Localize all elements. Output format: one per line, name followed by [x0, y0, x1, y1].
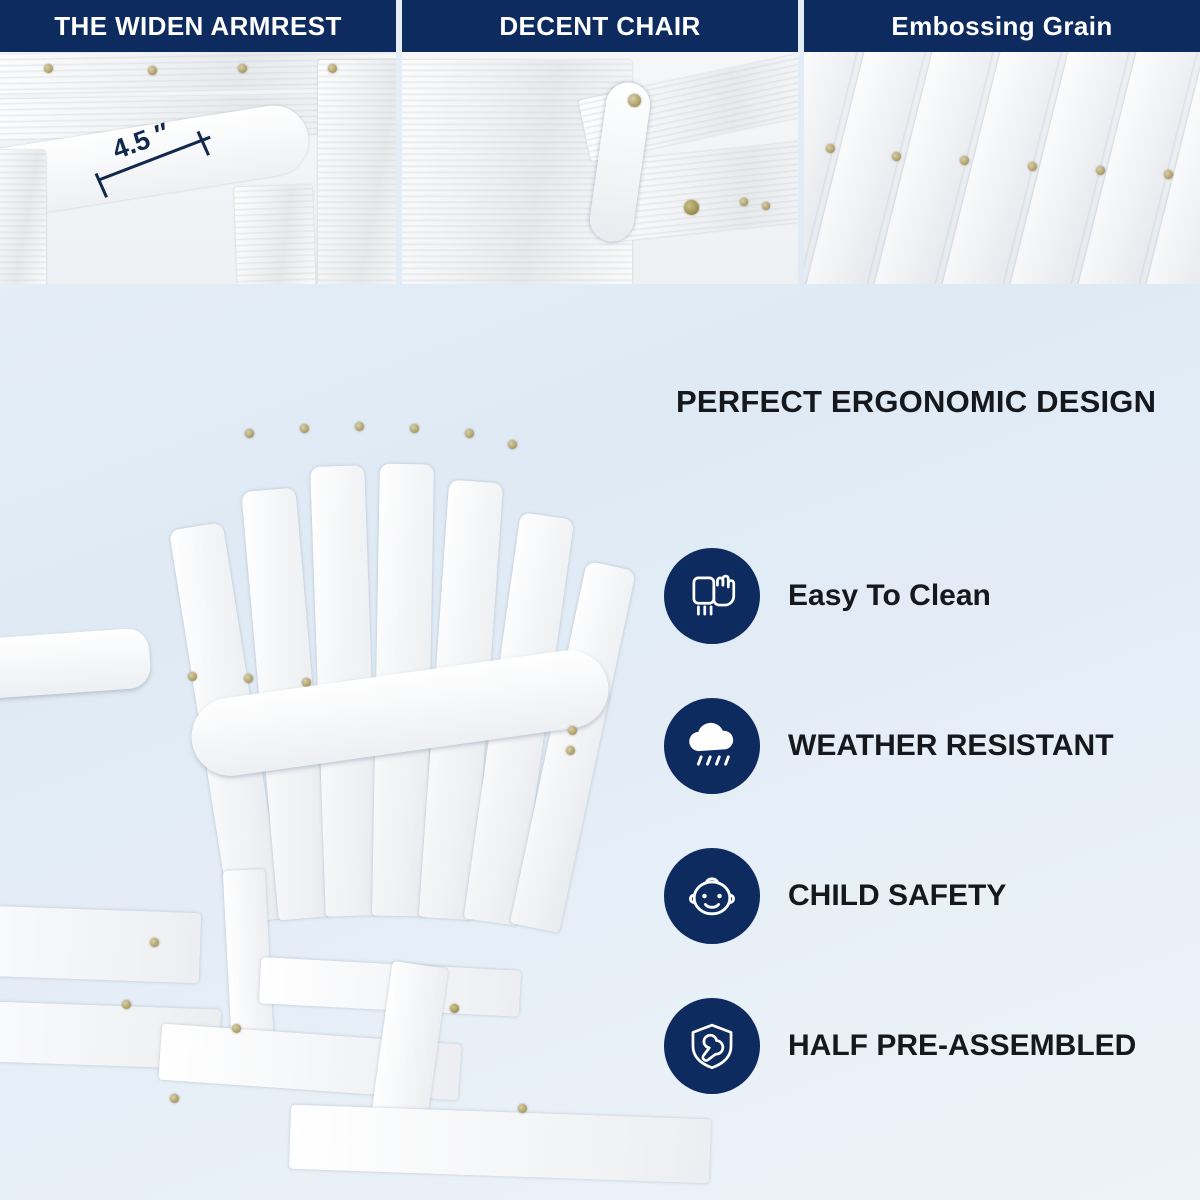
- panel-title-chair: DECENT CHAIR: [402, 0, 798, 52]
- feature-item-child-safety: CHILD SAFETY: [664, 846, 1194, 946]
- detail-panel-grain: Embossing Grain: [804, 0, 1200, 284]
- page-title: PERFECT ERGONOMIC DESIGN: [676, 384, 1186, 420]
- feature-item-weather-resistant: WEATHER RESISTANT: [664, 696, 1194, 796]
- product-infographic: 4.5 ″ THE WIDEN ARMREST DECENT CHAIR: [0, 0, 1200, 1200]
- feature-label: HALF PRE-ASSEMBLED: [788, 1029, 1136, 1063]
- product-photo-chair: [0, 274, 660, 1200]
- feature-label: WEATHER RESISTANT: [788, 729, 1114, 763]
- panel-title-armrest: THE WIDEN ARMREST: [0, 0, 396, 52]
- feature-label: CHILD SAFETY: [788, 879, 1006, 913]
- panel-title-grain: Embossing Grain: [804, 0, 1200, 52]
- feature-label: Easy To Clean: [788, 579, 991, 613]
- feature-item-easy-to-clean: Easy To Clean: [664, 546, 1194, 646]
- feature-item-half-pre-assembled: HALF PRE-ASSEMBLED: [664, 996, 1194, 1096]
- baby-face-icon: [664, 848, 760, 944]
- main-section: PERFECT ERGONOMIC DESIGN Easy To Clean: [0, 284, 1200, 1200]
- cleaning-cloth-icon: [664, 548, 760, 644]
- detail-panel-armrest: 4.5 ″ THE WIDEN ARMREST: [0, 0, 396, 284]
- rain-cloud-icon: [664, 698, 760, 794]
- feature-list: Easy To Clean WEATHER RESISTANT: [664, 546, 1194, 1146]
- shield-wrench-icon: [664, 998, 760, 1094]
- detail-panel-chair: DECENT CHAIR: [402, 0, 798, 284]
- top-detail-panels: 4.5 ″ THE WIDEN ARMREST DECENT CHAIR: [0, 0, 1200, 284]
